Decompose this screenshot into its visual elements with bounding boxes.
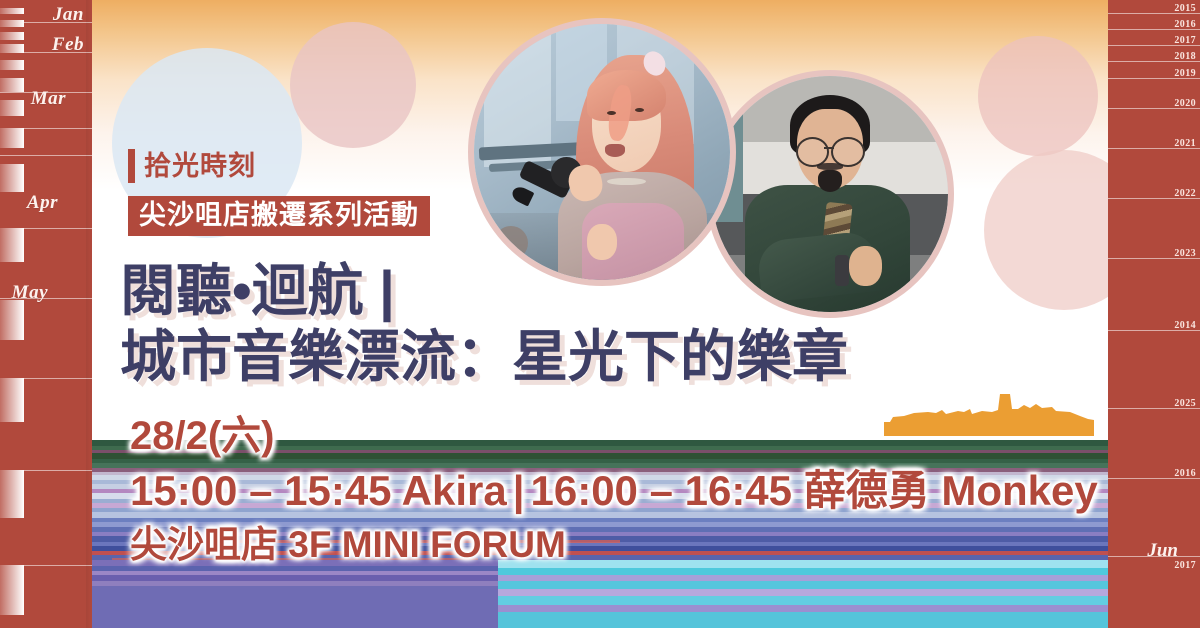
headline-line-2: 城市音樂漂流：星光下的樂章 [120,324,980,390]
speaker-photo-left [468,18,736,286]
decor-circle-pink-2 [978,36,1098,156]
rail-month-apr: Apr [27,192,58,214]
rail-month-feb: Feb [52,34,84,56]
timeslot-1: 15:00 – 15:45 Akira [130,467,507,514]
event-date: 28/2(六) [130,412,1108,461]
series-badge: 尖沙咀店搬遷系列活動 [128,196,430,236]
rail-month-jan: Jan [53,4,84,26]
event-details: 28/2(六) 15:00 – 15:45 Akira|16:00 – 16:4… [130,412,1108,570]
event-venue: 尖沙咀店 3F MINI FORUM [130,520,1108,570]
rail-year-2023: 2023 [1174,248,1196,259]
rail-year-2018: 2018 [1174,51,1196,62]
rail-year-2016-b: 2016 [1174,468,1196,479]
rail-year-2014: 2014 [1174,320,1196,331]
eyebrow-accent-bar [128,149,135,183]
event-poster: 拾光時刻 尖沙咀店搬遷系列活動 閱聽•迴航 | 城市音樂漂流：星光下的樂章 28… [0,0,1200,628]
timeslot-2: 16:00 – 16:45 薛德勇 Monkey [530,467,1097,514]
eyebrow-label: 拾光時刻 [128,149,256,183]
rail-month-mar: Mar [31,88,66,110]
series-badge-text: 尖沙咀店搬遷系列活動 [139,201,419,229]
rail-year-2021: 2021 [1174,138,1196,149]
headline-line-1: 閱聽•迴航 | [120,258,980,324]
rail-month-may: May [12,282,48,304]
event-timeslots: 15:00 – 15:45 Akira|16:00 – 16:45 薛德勇 Mo… [130,461,1108,521]
rail-year-2015: 2015 [1174,3,1196,14]
rail-year-2025: 2025 [1174,398,1196,409]
timeslot-separator: | [507,467,531,514]
calendar-rail-right: 2015 2016 2017 2018 2019 2020 2021 2022 … [1108,0,1200,628]
rail-year-2020: 2020 [1174,98,1196,109]
rail-year-2019: 2019 [1174,68,1196,79]
rail-year-2016: 2016 [1174,19,1196,30]
decor-circle-pink [290,22,416,148]
rail-year-2022: 2022 [1174,188,1196,199]
page-title: 閱聽•迴航 | 城市音樂漂流：星光下的樂章 [120,258,980,389]
poster-card: 拾光時刻 尖沙咀店搬遷系列活動 閱聽•迴航 | 城市音樂漂流：星光下的樂章 28… [92,0,1108,628]
rail-month-jun: Jun [1147,540,1178,562]
rail-year-2017: 2017 [1174,35,1196,46]
eyebrow-text: 拾光時刻 [144,153,256,180]
calendar-rail-left: Jan Feb Mar Apr May [0,0,92,628]
